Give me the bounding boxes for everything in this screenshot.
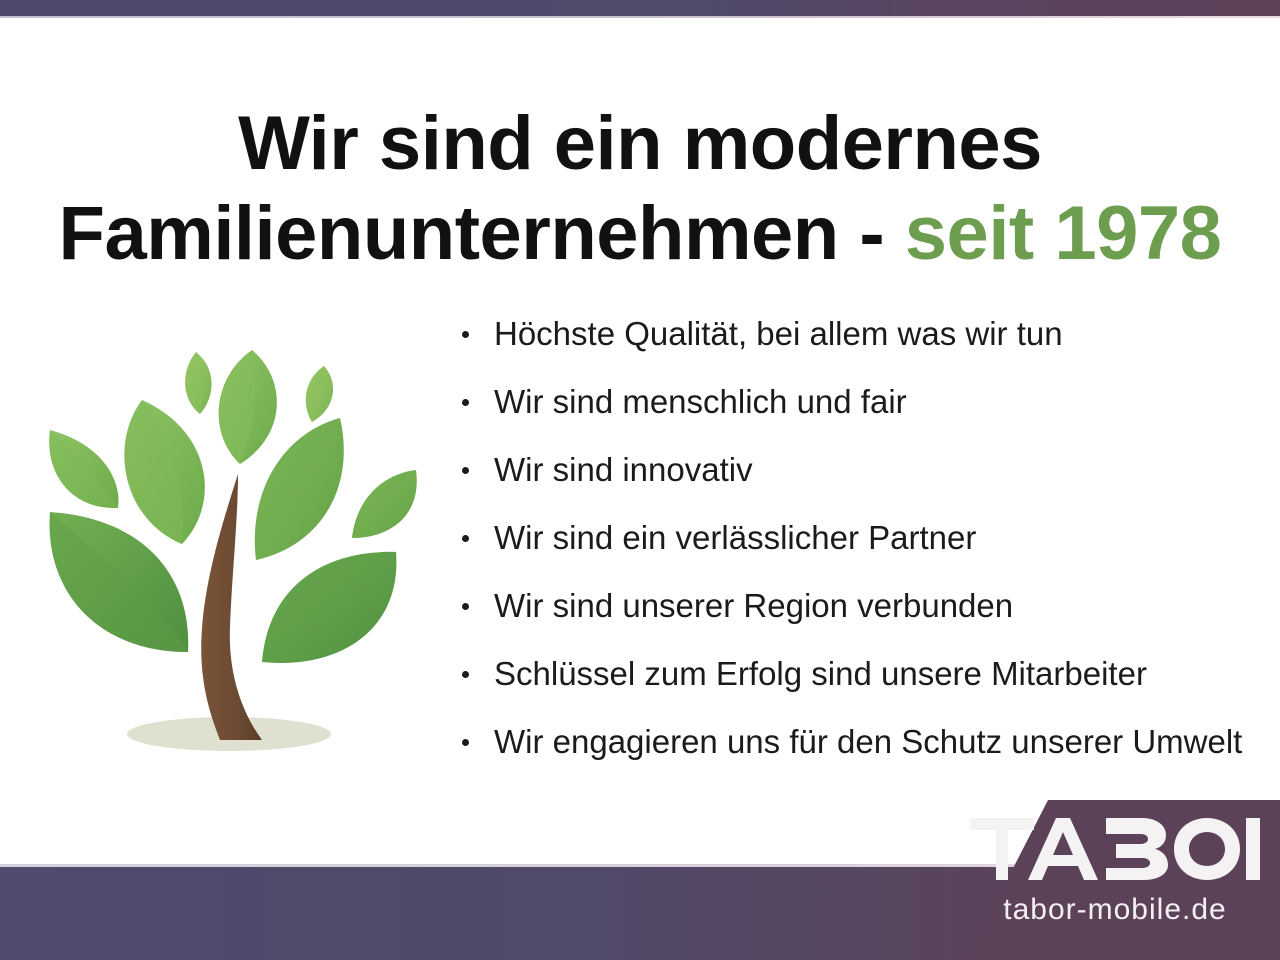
bullet-dot-icon: [462, 671, 469, 678]
slide-canvas: Wir sind ein modernes Familienunternehme…: [0, 0, 1280, 960]
list-item-label: Wir sind innovativ: [494, 451, 753, 488]
leaf-left-small: [49, 430, 118, 508]
list-item-label: Schlüssel zum Erfolg sind unsere Mitarbe…: [494, 655, 1147, 692]
tree-trunk: [201, 474, 262, 740]
leaf-upper-right: [255, 418, 344, 560]
leaf-right-small: [352, 470, 417, 538]
leaf-upper-left: [124, 400, 205, 544]
leaf-top-left-small: [185, 352, 211, 414]
list-item: Wir sind unserer Region verbunden: [458, 572, 1268, 640]
bullet-dot-icon: [462, 399, 469, 406]
leaf-lower-right: [262, 552, 396, 663]
bullet-dot-icon: [462, 535, 469, 542]
list-item: Wir sind innovativ: [458, 436, 1268, 504]
headline-line-1: Wir sind ein modernes: [0, 99, 1280, 189]
logo-tagline: tabor-mobile.de: [970, 893, 1260, 927]
list-item: Wir sind menschlich und fair: [458, 368, 1268, 436]
list-item: Höchste Qualität, bei allem was wir tun: [458, 300, 1268, 368]
top-accent-hairline: [0, 16, 1280, 18]
tree-illustration: [24, 322, 436, 762]
leaf-top-right-small: [306, 366, 333, 422]
list-item-label: Wir sind menschlich und fair: [494, 383, 907, 420]
list-item-label: Wir engagieren uns für den Schutz unsere…: [494, 723, 1242, 760]
page-title: Wir sind ein modernes Familienunternehme…: [0, 99, 1280, 279]
tabor-logo-wordmark: [970, 818, 1260, 880]
headline-accent: seit 1978: [905, 191, 1222, 276]
top-accent-bar: [0, 0, 1280, 16]
list-item-label: Wir sind unserer Region verbunden: [494, 587, 1013, 624]
bullet-dot-icon: [462, 467, 469, 474]
headline-line-2: Familienunternehmen - seit 1978: [0, 189, 1280, 279]
value-bullet-list: Höchste Qualität, bei allem was wir tun …: [458, 300, 1268, 776]
headline-line-2-prefix: Familienunternehmen -: [59, 191, 905, 276]
list-item-label: Wir sind ein verlässlicher Partner: [494, 519, 976, 556]
list-item: Wir sind ein verlässlicher Partner: [458, 504, 1268, 572]
leaf-top-center: [219, 350, 277, 464]
bullet-dot-icon: [462, 603, 469, 610]
bullet-dot-icon: [462, 739, 469, 746]
list-item-label: Höchste Qualität, bei allem was wir tun: [494, 315, 1063, 352]
list-item: Schlüssel zum Erfolg sind unsere Mitarbe…: [458, 640, 1268, 708]
list-item: Wir engagieren uns für den Schutz unsere…: [458, 708, 1268, 776]
bullet-dot-icon: [462, 331, 469, 338]
